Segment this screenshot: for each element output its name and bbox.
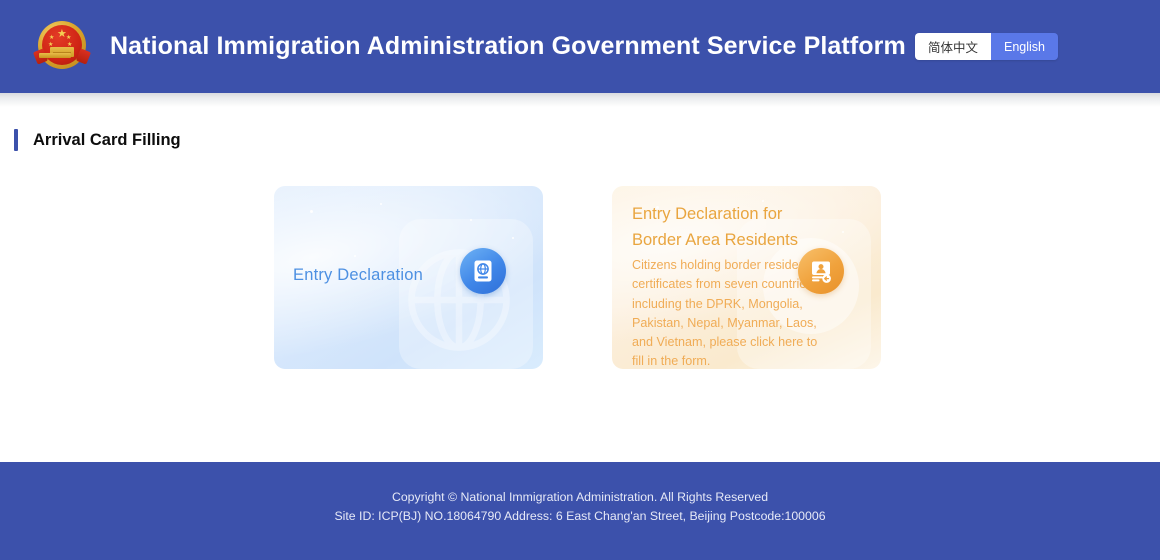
language-option-chinese[interactable]: 简体中文 (915, 33, 991, 60)
site-footer: Copyright © National Immigration Adminis… (0, 462, 1160, 560)
sparkle-icon (380, 203, 382, 205)
passport-globe-icon (460, 248, 506, 294)
site-title: National Immigration Administration Gove… (110, 32, 906, 61)
id-card-person-icon (798, 248, 844, 294)
language-switcher[interactable]: 简体中文 English (915, 33, 1058, 60)
card-title-entry-declaration: Entry Declaration (293, 266, 423, 285)
china-national-emblem-icon: ★ ★ ★ ★ ★ (35, 20, 89, 74)
card-description-border-residents: Citizens holding border resident certifi… (632, 256, 822, 369)
footer-copyright: Copyright © National Immigration Adminis… (392, 488, 768, 507)
page-title-row: Arrival Card Filling (14, 129, 181, 151)
sparkle-icon (354, 255, 356, 257)
card-entry-declaration-border-residents[interactable]: Entry Declaration for Border Area Reside… (612, 186, 881, 369)
site-header: ★ ★ ★ ★ ★ National Immigration Administr… (0, 0, 1160, 93)
card-title-border-residents: Entry Declaration for Border Area Reside… (632, 201, 827, 253)
sparkle-icon (310, 210, 313, 213)
language-option-english[interactable]: English (991, 33, 1058, 60)
header-shadow (0, 93, 1160, 107)
footer-site-info: Site ID: ICP(BJ) NO.18064790 Address: 6 … (334, 507, 825, 526)
page-title: Arrival Card Filling (33, 131, 181, 150)
page-title-accent-bar (14, 129, 18, 151)
card-entry-declaration[interactable]: Entry Declaration (274, 186, 543, 369)
